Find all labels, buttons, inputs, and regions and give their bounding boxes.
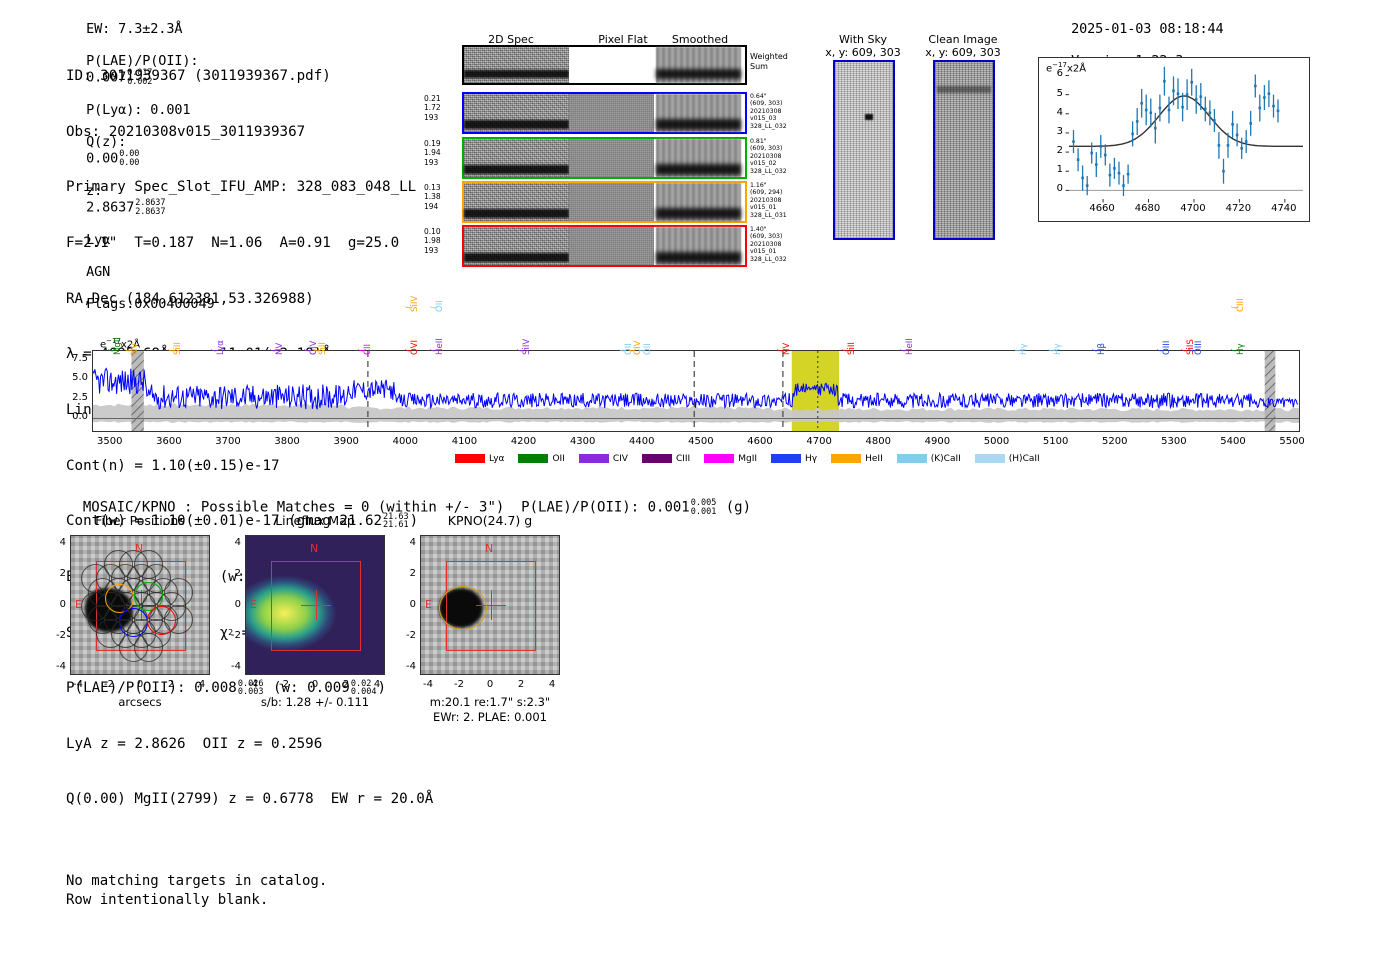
spectrum-xtick: 4900 xyxy=(917,436,957,447)
weighted-sum-smoothed xyxy=(656,47,741,83)
weighted-sum-2dspec xyxy=(464,47,569,83)
imaging-panel-2-sublabel: EWr: 2. PLAE: 0.001 xyxy=(390,710,590,724)
cutout-stat: 1.94 xyxy=(424,148,441,157)
line-marker-HeII: HeII xyxy=(905,338,915,355)
imaging-panel-2-image: NE xyxy=(420,535,560,675)
crosshair-v xyxy=(491,590,492,620)
cutout-row-0 xyxy=(462,92,747,134)
line-marker-bracket: ( xyxy=(1157,348,1167,352)
legend-swatch-CIV xyxy=(579,454,609,463)
spectrum-xtick: 5200 xyxy=(1095,436,1135,447)
spectrum-xtick: 5100 xyxy=(1036,436,1076,447)
source-ellipse xyxy=(439,586,487,630)
info-radec: RA,Dec (184.612381,53.326988) xyxy=(66,290,433,309)
line-marker-OVI: OVI xyxy=(410,340,420,355)
compass-north: N xyxy=(485,542,493,555)
imaging-xtick: -4 xyxy=(414,679,442,690)
line-marker-bracket: ( xyxy=(842,348,852,352)
spectrum-xtick: 4400 xyxy=(622,436,662,447)
spectrum-xtick: 4100 xyxy=(444,436,484,447)
line-marker-bracket: ( xyxy=(211,348,221,352)
imaging-panel-1-xlabel: s/b: 1.28 +/- 0.111 xyxy=(215,695,415,709)
line-marker-MgII: MgII xyxy=(113,337,123,355)
imaging-xtick: -2 xyxy=(445,679,473,690)
spectrum-xtick: 5500 xyxy=(1272,436,1312,447)
line-marker-bracket: ( xyxy=(900,348,910,352)
line-marker-bracket: ( xyxy=(430,348,440,352)
fit-ytick: 0 xyxy=(1051,183,1063,194)
fit-xtick: 4740 xyxy=(1270,203,1298,214)
cutout-smoothed xyxy=(656,183,741,221)
spectrum-xtick: 4700 xyxy=(799,436,839,447)
line-marker-bracket: ( xyxy=(638,348,648,352)
cutout-row-3 xyxy=(462,225,747,267)
sky-panel-1-title: Clean Imagex, y: 609, 303 xyxy=(908,33,1018,59)
cutout-stat: 193 xyxy=(424,246,441,255)
imaging-ytick: 0 xyxy=(398,599,416,610)
imaging-xtick: 4 xyxy=(538,679,566,690)
fit-ytick: 6 xyxy=(1051,68,1063,79)
imaging-panel-1-title: Lineflux Map xyxy=(225,513,405,528)
fit-ytick: 1 xyxy=(1051,164,1063,175)
legend-swatch-Hγ xyxy=(771,454,801,463)
legend-label-HeII: HeII xyxy=(865,454,883,464)
cutout-row-3-stats: 0.101.98193 xyxy=(424,227,441,255)
clean-residual-band xyxy=(937,86,991,93)
spectrum-xtick: 3500 xyxy=(90,436,130,447)
line-marker-bracket: ( xyxy=(517,348,527,352)
legend-label-(H)CaII: (H)CaII xyxy=(1009,454,1040,464)
cutout-2dspec xyxy=(464,227,569,265)
spectrum-ytick: 7.5 xyxy=(58,353,88,364)
spectrum-xtick: 4500 xyxy=(681,436,721,447)
cutout-smoothed xyxy=(656,139,741,177)
crosshair-v xyxy=(316,590,317,620)
line-marker-bracket: ( xyxy=(628,348,638,352)
info-seeing: F=2.1" T=0.187 N=1.06 A=0.91 g=25.0 xyxy=(66,234,433,253)
imaging-ytick: -2 xyxy=(398,630,416,641)
imaging-ytick: 4 xyxy=(223,537,241,548)
info-obs: Obs: 20210308v015_3011939367 xyxy=(66,123,433,142)
legend-label-OII: OII xyxy=(552,454,564,464)
imaging-xtick: 4 xyxy=(363,679,391,690)
spectrum-ytick: 5.0 xyxy=(58,372,88,383)
imaging-ytick: 0 xyxy=(223,599,241,610)
spectrum-xtick: 3900 xyxy=(326,436,366,447)
legend-swatch-HeII xyxy=(831,454,861,463)
legend-label-Hγ: Hγ xyxy=(805,454,817,464)
line-marker-bracket: ( xyxy=(1189,348,1199,352)
row-intentionally-blank: Row intentionally blank. xyxy=(66,891,327,910)
fit-ytick: 4 xyxy=(1051,107,1063,118)
fit-xtick: 4660 xyxy=(1088,203,1116,214)
cutout-smoothed xyxy=(656,94,741,132)
line-marker-bracket: ( xyxy=(405,348,415,352)
line-marker-bracket: ( xyxy=(125,348,135,352)
weighted-sum-label: Weighted Sum xyxy=(750,52,788,72)
spectrum-xtick: 4600 xyxy=(740,436,780,447)
cutout-stat: 1.98 xyxy=(424,236,441,245)
legend-label-(K)CaII: (K)CaII xyxy=(931,454,961,464)
imaging-panel-0-image: NE xyxy=(70,535,210,675)
cutout-stat: 193 xyxy=(424,158,441,167)
cutout-pixelflat xyxy=(569,94,654,132)
legend-label-MgII: MgII xyxy=(738,454,757,464)
line-marker-bracket: ( xyxy=(108,348,118,352)
line-marker-bracket: ( xyxy=(270,348,280,352)
line-marker-bracket: ( xyxy=(313,348,323,352)
imaging-xtick: 2 xyxy=(332,679,360,690)
line-marker-bracket: ( xyxy=(168,348,178,352)
line-marker-HeII: HeII xyxy=(435,338,445,355)
fit-ytick: 5 xyxy=(1051,88,1063,99)
legend-swatch-CIII xyxy=(642,454,672,463)
imaging-panel-0-title: Fiber Positions xyxy=(50,513,230,528)
legend-swatch-OII xyxy=(518,454,548,463)
imaging-panel-2-xlabel: m:20.1 re:1.7" s:2.3" xyxy=(390,695,590,709)
spectrum-xtick: 3800 xyxy=(267,436,307,447)
fit-ytick: 3 xyxy=(1051,126,1063,137)
imaging-xtick: 4 xyxy=(188,679,216,690)
fiber-circle xyxy=(134,633,163,662)
cutout-stat: 1.72 xyxy=(424,103,441,112)
imaging-xtick: -2 xyxy=(270,679,298,690)
cutout-2dspec xyxy=(464,94,569,132)
imaging-ytick: 2 xyxy=(223,568,241,579)
line-marker-bracket: ( xyxy=(358,348,368,352)
cutout-stat: 0.10 xyxy=(424,227,441,236)
legend-label-Lyα: Lyα xyxy=(489,454,504,464)
cutout-row-weighted-sum xyxy=(462,45,747,85)
weighted-sum-pixelflat xyxy=(569,47,654,83)
spectrum-xtick: 4200 xyxy=(504,436,544,447)
info-q-mgii: Q(0.00) MgII(2799) z = 0.6778 EW r = 20.… xyxy=(66,790,433,809)
imaging-xtick: -4 xyxy=(64,679,92,690)
imaging-ytick: -4 xyxy=(223,661,241,672)
sky-artifact xyxy=(865,114,873,120)
cutout-stat: 194 xyxy=(424,202,441,211)
spectrum-xtick: 5000 xyxy=(977,436,1017,447)
line-marker-bracket: ( xyxy=(777,348,787,352)
imaging-panel-1-image: NE xyxy=(245,535,385,675)
cutout-stat: 193 xyxy=(424,113,441,122)
line-marker-bracket: ( xyxy=(1231,305,1241,309)
line-marker-bracket: ( xyxy=(1092,348,1102,352)
imaging-ytick: -2 xyxy=(48,630,66,641)
fit-xtick: 4720 xyxy=(1224,203,1252,214)
imaging-xtick: 0 xyxy=(301,679,329,690)
info-primary-spec: Primary Spec_Slot_IFU_AMP: 328_083_048_L… xyxy=(66,178,433,197)
cutout-pixelflat xyxy=(569,227,654,265)
cutout-pixelflat xyxy=(569,139,654,177)
cutout-row-2-meta: 1.16" (609, 294) 20210308 v015_01 328_LL… xyxy=(750,182,787,219)
sky-panel-0-title: With Skyx, y: 609, 303 xyxy=(808,33,918,59)
cutout-row-2-stats: 0.131.38194 xyxy=(424,183,441,211)
info-redshifts: LyA z = 2.8626 OII z = 0.2596 xyxy=(66,735,433,754)
compass-north: N xyxy=(310,542,318,555)
cutout-stat: 0.19 xyxy=(424,139,441,148)
imaging-ytick: 4 xyxy=(48,537,66,548)
spectrum-xtick: 4300 xyxy=(563,436,603,447)
imaging-xtick: 2 xyxy=(157,679,185,690)
line-marker-bracket: ( xyxy=(1014,348,1024,352)
imaging-xtick: 2 xyxy=(507,679,535,690)
compass-north: N xyxy=(135,542,143,555)
fiber-circle-highlight xyxy=(119,608,148,637)
mosaic-plae-range: 0.0050.001 xyxy=(691,499,717,516)
legend-swatch-(K)CaII xyxy=(897,454,927,463)
cutout-row-2 xyxy=(462,181,747,223)
line-marker-SiIV: SiIV xyxy=(522,339,532,355)
imaging-ytick: 4 xyxy=(398,537,416,548)
line-marker-bracket: ( xyxy=(405,305,415,309)
spectrum-ytick: 0.0 xyxy=(58,411,88,422)
cutout-row-1-stats: 0.191.94193 xyxy=(424,139,441,167)
no-matching-targets: No matching targets in catalog. xyxy=(66,872,327,891)
mosaic-kpno-line: MOSAIC/KPNO : Possible Matches = 0 (with… xyxy=(66,483,751,516)
sky-panel-1-image xyxy=(933,60,995,240)
imaging-xtick: -2 xyxy=(95,679,123,690)
imaging-xtick: -4 xyxy=(239,679,267,690)
legend-label-CIV: CIV xyxy=(613,454,628,464)
spectrum-xtick: 5300 xyxy=(1154,436,1194,447)
info-id: ID: 3011939367 (3011939367.pdf) xyxy=(66,67,433,86)
line-marker-bracket: ( xyxy=(1231,348,1241,352)
imaging-panel-0-xlabel: arcsecs xyxy=(40,695,240,709)
emission-line-fit-plot: e−17x2Å xyxy=(1038,57,1310,222)
imaging-ytick: -4 xyxy=(48,661,66,672)
line-marker-bracket: ( xyxy=(430,305,440,309)
spectrum-xtick: 4000 xyxy=(385,436,425,447)
sky-panel-coords: x, y: 609, 303 xyxy=(908,46,1018,59)
cutout-2dspec xyxy=(464,139,569,177)
cutout-row-1 xyxy=(462,137,747,179)
imaging-panel-2-title: KPNO(24.7) g xyxy=(400,513,580,528)
legend-swatch-Lyα xyxy=(455,454,485,463)
spectrum-legend: LyαOIICIVCIIIMgIIHγHeII(K)CaII(H)CaII xyxy=(455,448,1054,467)
cutout-stat: 0.21 xyxy=(424,94,441,103)
sky-panel-0-image xyxy=(833,60,895,240)
spectrum-xtick: 4800 xyxy=(858,436,898,447)
imaging-ytick: 2 xyxy=(398,568,416,579)
imaging-ytick: -4 xyxy=(398,661,416,672)
fiber-circle-highlight xyxy=(147,606,176,635)
imaging-xtick: 0 xyxy=(476,679,504,690)
spectrum-ytick: 2.5 xyxy=(58,392,88,403)
imaging-ytick: 2 xyxy=(48,568,66,579)
legend-label-CIII: CIII xyxy=(676,454,690,464)
compass-east: E xyxy=(425,598,432,611)
spectrum-xtick: 3600 xyxy=(149,436,189,447)
fit-xtick: 4680 xyxy=(1134,203,1162,214)
sky-panel-coords: x, y: 609, 303 xyxy=(808,46,918,59)
cutout-pixelflat xyxy=(569,183,654,221)
sky-panel-title: With Sky xyxy=(808,33,918,46)
cutout-2dspec xyxy=(464,183,569,221)
cutout-stat: 1.38 xyxy=(424,192,441,201)
fit-ytick: 2 xyxy=(1051,145,1063,156)
cutout-row-0-meta: 0.64" (609, 303) 20210308 v015_03 328_LL… xyxy=(750,93,787,130)
cutout-row-3-meta: 1.40" (609, 303) 20210308 v015_01 328_LL… xyxy=(750,226,787,263)
spectrum-xtick: 3700 xyxy=(208,436,248,447)
compass-east: E xyxy=(250,598,257,611)
line-marker-bracket: ( xyxy=(1048,348,1058,352)
spectrum-xtick: 5400 xyxy=(1213,436,1253,447)
cutout-row-1-meta: 0.81" (609, 303) 20210308 v015_02 328_LL… xyxy=(750,138,787,175)
legend-swatch-(H)CaII xyxy=(975,454,1005,463)
cutout-row-0-stats: 0.211.72193 xyxy=(424,94,441,122)
header-timestamp: 2025-01-03 08:18:44 xyxy=(1071,21,1224,37)
compass-east: E xyxy=(75,598,82,611)
full-spectrum-plot xyxy=(92,350,1300,432)
imaging-ytick: -2 xyxy=(223,630,241,641)
cutout-smoothed xyxy=(656,227,741,265)
imaging-ytick: 0 xyxy=(48,599,66,610)
cutout-stat: 0.13 xyxy=(424,183,441,192)
bottom-no-match-text: No matching targets in catalog. Row inte… xyxy=(66,872,327,909)
line-marker-SiIV: SiIV xyxy=(410,296,420,312)
legend-swatch-MgII xyxy=(704,454,734,463)
imaging-xtick: 0 xyxy=(126,679,154,690)
info-cont-n: Cont(n) = 1.10(±0.15)e-17 xyxy=(66,457,433,476)
fit-xtick: 4700 xyxy=(1179,203,1207,214)
sky-panel-title: Clean Image xyxy=(908,33,1018,46)
